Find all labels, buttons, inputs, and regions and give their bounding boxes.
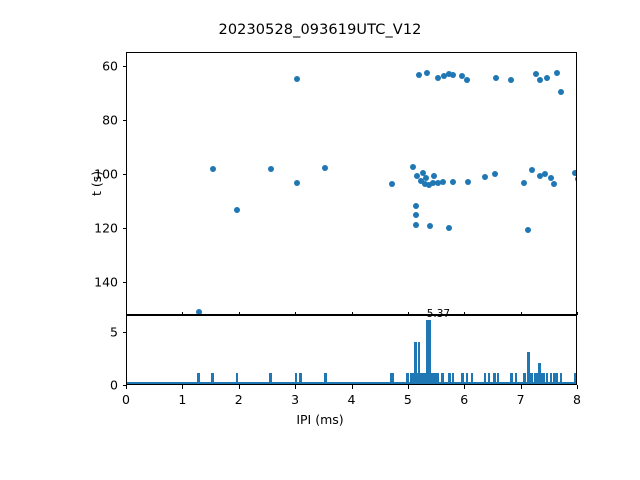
histogram-bar xyxy=(515,373,518,384)
scatter-point xyxy=(440,179,446,185)
histogram-bar xyxy=(211,373,214,384)
x-tick-mark xyxy=(577,385,578,389)
histogram-bar xyxy=(530,373,533,384)
x-axis-label: IPI (ms) xyxy=(0,412,640,427)
y-tick-label: 100 xyxy=(70,167,118,182)
scatter-point xyxy=(446,225,452,231)
figure-title: 20230528_093619UTC_V12 xyxy=(0,22,640,38)
histogram-bar xyxy=(448,373,451,384)
scatter-point xyxy=(450,72,456,78)
y-tick-label: 120 xyxy=(70,221,118,236)
y-tick-label: 140 xyxy=(70,275,118,290)
y-tick-mark xyxy=(123,120,127,121)
scatter-point xyxy=(322,165,328,171)
histogram-bar xyxy=(269,373,272,384)
scatter-point xyxy=(427,223,433,229)
scatter-point xyxy=(413,222,419,228)
histogram-bar xyxy=(484,373,487,384)
scatter-point xyxy=(482,174,488,180)
y-tick-mark xyxy=(123,228,127,229)
histogram-bar xyxy=(546,373,549,384)
scatter-point xyxy=(551,181,557,187)
scatter-point xyxy=(537,77,543,83)
scatter-point xyxy=(423,175,429,181)
scatter-point xyxy=(268,166,274,172)
y-tick-label: 60 xyxy=(70,58,118,73)
histogram-bar xyxy=(523,373,526,384)
scatter-point xyxy=(529,167,535,173)
scatter-point xyxy=(424,70,430,76)
x-tick-mark xyxy=(464,385,465,389)
scatter-point xyxy=(294,180,300,186)
histogram-bar xyxy=(527,352,530,384)
histogram-bar xyxy=(466,373,469,384)
x-tick-label: 4 xyxy=(348,392,356,407)
y-tick-label: 0 xyxy=(70,378,118,393)
x-tick-label: 6 xyxy=(460,392,468,407)
scatter-point xyxy=(450,179,456,185)
x-tick-mark xyxy=(521,385,522,389)
histogram-bar xyxy=(488,373,491,384)
histogram-bar xyxy=(441,373,444,384)
scatter-point xyxy=(525,227,531,233)
scatter-point xyxy=(558,89,564,95)
y-tick-mark xyxy=(123,282,127,283)
x-tick-label: 1 xyxy=(178,392,186,407)
scatter-point xyxy=(465,179,471,185)
x-tick-label: 0 xyxy=(122,392,130,407)
scatter-point xyxy=(554,70,560,76)
scatter-point xyxy=(416,72,422,78)
scatter-point xyxy=(493,75,499,81)
x-tick-mark xyxy=(295,385,296,389)
histogram-bar xyxy=(392,373,395,384)
scatter-point xyxy=(413,212,419,218)
x-tick-mark xyxy=(239,385,240,389)
scatter-point xyxy=(389,181,395,187)
scatter-point xyxy=(464,77,470,83)
scatter-point xyxy=(575,176,577,182)
histogram-bar xyxy=(510,373,513,384)
histogram-bar xyxy=(452,373,455,384)
histogram-bar xyxy=(461,373,464,384)
histogram-bar xyxy=(437,373,440,384)
scatter-point xyxy=(572,170,577,176)
y-tick-label: 5 xyxy=(70,324,118,339)
scatter-point xyxy=(544,75,550,81)
scatter-point xyxy=(521,180,527,186)
histogram-panel xyxy=(126,315,577,385)
scatter-point xyxy=(210,166,216,172)
scatter-point xyxy=(410,164,416,170)
x-tick-mark xyxy=(577,312,578,316)
x-tick-mark xyxy=(126,385,127,389)
peak-annotation-label: 5.37 xyxy=(427,308,450,320)
y-tick-mark xyxy=(123,332,127,333)
histogram-bar xyxy=(324,373,327,384)
scatter-plot-panel xyxy=(126,52,577,315)
histogram-baseline xyxy=(127,382,576,384)
scatter-point xyxy=(508,77,514,83)
histogram-bar xyxy=(406,373,409,384)
y-tick-mark xyxy=(123,174,127,175)
x-tick-label: 2 xyxy=(235,392,243,407)
x-tick-label: 3 xyxy=(291,392,299,407)
y-tick-mark xyxy=(123,66,127,67)
scatter-point xyxy=(234,207,240,213)
x-tick-mark xyxy=(408,385,409,389)
histogram-bar xyxy=(560,373,563,384)
histogram-bar xyxy=(295,373,298,384)
histogram-bar xyxy=(550,373,553,384)
scatter-point xyxy=(492,171,498,177)
histogram-bar xyxy=(574,373,577,384)
histogram-bar xyxy=(555,373,558,384)
histogram-bar xyxy=(236,373,239,384)
histogram-bar xyxy=(493,373,496,384)
matplotlib-figure: 20230528_093619UTC_V12 t (s) 60801001201… xyxy=(0,0,640,480)
y-tick-label: 80 xyxy=(70,112,118,127)
scatter-point xyxy=(294,76,300,82)
x-tick-label: 7 xyxy=(517,392,525,407)
x-tick-mark xyxy=(352,385,353,389)
scatter-point xyxy=(413,203,419,209)
x-tick-label: 5 xyxy=(404,392,412,407)
scatter-point xyxy=(548,175,554,181)
scatter-point xyxy=(431,173,437,179)
histogram-bar xyxy=(197,373,200,384)
histogram-bar xyxy=(299,373,302,384)
histogram-bar xyxy=(497,373,500,384)
x-tick-label: 8 xyxy=(573,392,581,407)
x-tick-mark xyxy=(182,385,183,389)
histogram-bar xyxy=(471,373,474,384)
